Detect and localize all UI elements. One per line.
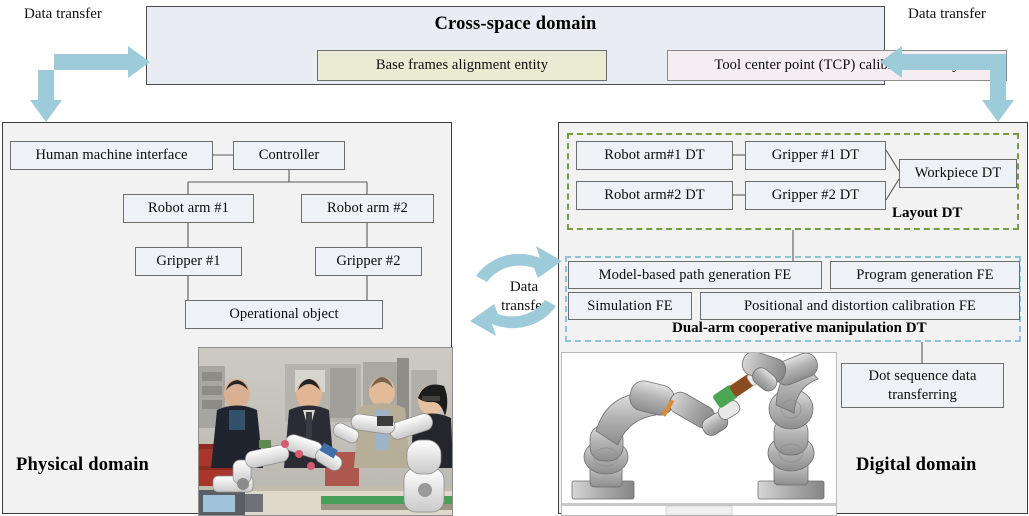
node-positional-distortion-calibration-fe[interactable]: Positional and distortion calibration FE: [700, 292, 1020, 320]
node-workpiece-dt[interactable]: Workpiece DT: [899, 159, 1017, 188]
diagram-root: Data transfer Data transfer Cross-space …: [0, 0, 1029, 516]
center-data-transfer-label: Data transfer: [478, 278, 570, 316]
node-controller[interactable]: Controller: [233, 141, 345, 170]
node-gripper-1-dt[interactable]: Gripper #1 DT: [745, 141, 886, 170]
node-program-generation-fe[interactable]: Program generation FE: [830, 261, 1020, 289]
node-robot-arm-1[interactable]: Robot arm #1: [123, 194, 254, 223]
center-data-transfer-label-line2: transfer: [501, 298, 547, 314]
node-robot-arm-2[interactable]: Robot arm #2: [301, 194, 434, 223]
physical-domain-label: Physical domain: [16, 455, 149, 476]
lab-photo-graphic: [199, 348, 452, 515]
node-dot-sequence-data-transferring[interactable]: Dot sequence data transferring: [841, 363, 1004, 408]
dual-arm-robot-lab-photo: [198, 347, 453, 516]
cross-space-domain-title: Cross-space domain: [147, 14, 884, 35]
dual-arm-robot-cad-render: [561, 352, 837, 516]
base-frames-alignment-entity-box[interactable]: Base frames alignment entity: [317, 50, 607, 81]
node-operational-object[interactable]: Operational object: [185, 300, 383, 329]
node-robot-arm-1-dt[interactable]: Robot arm#1 DT: [576, 141, 733, 170]
node-human-machine-interface[interactable]: Human machine interface: [10, 141, 213, 170]
left-data-transfer-label: Data transfer: [24, 6, 102, 23]
dual-arm-dt-group-label: Dual-arm cooperative manipulation DT: [672, 320, 927, 337]
node-gripper-2[interactable]: Gripper #2: [315, 247, 422, 276]
tcp-calibration-entity-box[interactable]: Tool center point (TCP) calibration enti…: [667, 50, 1007, 81]
cross-space-domain-panel: Cross-space domain Base frames alignment…: [146, 6, 885, 85]
right-data-transfer-label: Data transfer: [908, 6, 986, 23]
left-data-transfer-arrow: [30, 38, 150, 122]
cad-render-graphic: [562, 353, 836, 515]
layout-dt-group-label: Layout DT: [892, 205, 962, 222]
node-gripper-2-dt[interactable]: Gripper #2 DT: [745, 181, 886, 210]
node-simulation-fe[interactable]: Simulation FE: [568, 292, 692, 320]
node-robot-arm-2-dt[interactable]: Robot arm#2 DT: [576, 181, 733, 210]
node-model-based-path-generation-fe[interactable]: Model-based path generation FE: [568, 261, 822, 289]
digital-domain-label: Digital domain: [856, 455, 977, 476]
center-data-transfer-label-line1: Data: [510, 279, 538, 295]
node-gripper-1[interactable]: Gripper #1: [135, 247, 242, 276]
